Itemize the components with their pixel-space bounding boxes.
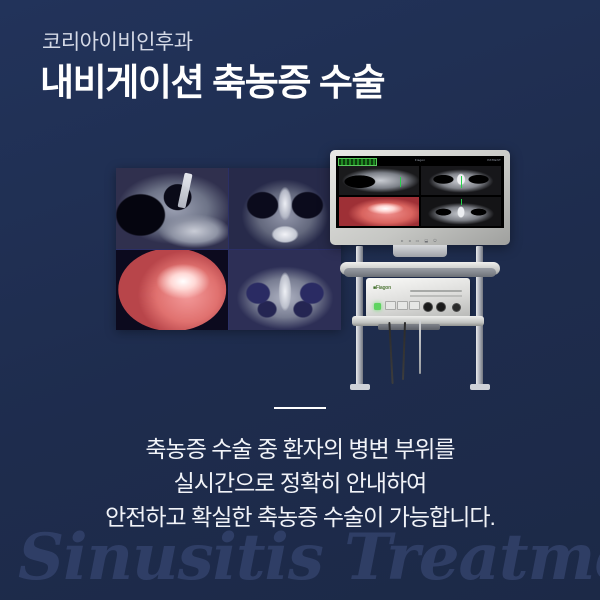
clinic-name: 코리아이비인후과 [42,30,384,56]
power-led-icon [374,303,381,310]
promo-card: 코리아이비인후과 내비게이션 축농증 수술 Fiagon PATIENT [0,0,600,600]
sagittal-ct-scan [116,168,228,249]
logo-text: Fiagon [376,285,391,291]
axial-ct-scan [229,250,341,331]
cart-handle [344,268,496,277]
console-button-3[interactable] [409,301,420,310]
monitor-stand [393,245,447,257]
description-line-1: 축농증 수술 중 환자의 병변 부위를 [0,432,600,466]
description-block: 축농증 수술 중 환자의 병변 부위를 실시간으로 정확히 안내하여 안전하고 … [0,432,600,534]
status-badge [338,158,377,166]
coronal-ct-scan [229,168,341,249]
cart-foot-left [350,384,370,390]
monitor-coronal-view [421,166,501,195]
hero-illustration: Fiagon PATIENT ▸ ◂ ▭ ⬓ ⏻ ■Fi [0,150,600,390]
quadrant-layout [339,166,501,226]
navigation-marker-icon [461,176,463,188]
console-logo: ■Fiagon [373,285,391,291]
console-port-1 [423,302,433,312]
navigation-monitor: Fiagon PATIENT ▸ ◂ ▭ ⬓ ⏻ [330,150,510,245]
description-line-2: 실시간으로 정확히 안내하여 [0,466,600,500]
console-port-3 [452,303,461,312]
monitor-sagittal-view [339,166,419,195]
navigation-console: ■Fiagon [366,278,470,318]
monitor-endoscope-view [339,197,419,226]
navigation-marker-icon [400,177,402,187]
endoscopic-view [116,250,228,331]
monitor-control-buttons: ▸ ◂ ▭ ⬓ ⏻ [401,238,438,243]
navigation-marker-icon [461,199,463,205]
medical-imaging-grid [116,168,341,330]
monitor-screen: Fiagon PATIENT [336,156,504,228]
description-line-3: 안전하고 확실한 축농증 수술이 가능합니다. [0,500,600,534]
screen-header-center: Fiagon [415,158,425,162]
console-button-2[interactable] [397,301,408,310]
screen-header-right: PATIENT [487,158,501,162]
probe-cable-3 [419,320,421,374]
console-slot-line [410,295,462,297]
probe-cable-2 [402,322,406,380]
section-divider [274,407,326,409]
page-title: 내비게이션 축농증 수술 [40,62,384,105]
cart-foot-right [470,384,490,390]
surgical-navigation-cart: Fiagon PATIENT ▸ ◂ ▭ ⬓ ⏻ ■Fi [330,150,510,390]
console-slot [410,290,462,292]
monitor-axial-view [421,197,501,226]
header: 코리아이비인후과 내비게이션 축농증 수술 [40,30,384,105]
console-button-1[interactable] [385,301,396,310]
console-port-2 [436,302,446,312]
probe-cable-1 [388,322,393,384]
cart-drawer [378,324,440,330]
